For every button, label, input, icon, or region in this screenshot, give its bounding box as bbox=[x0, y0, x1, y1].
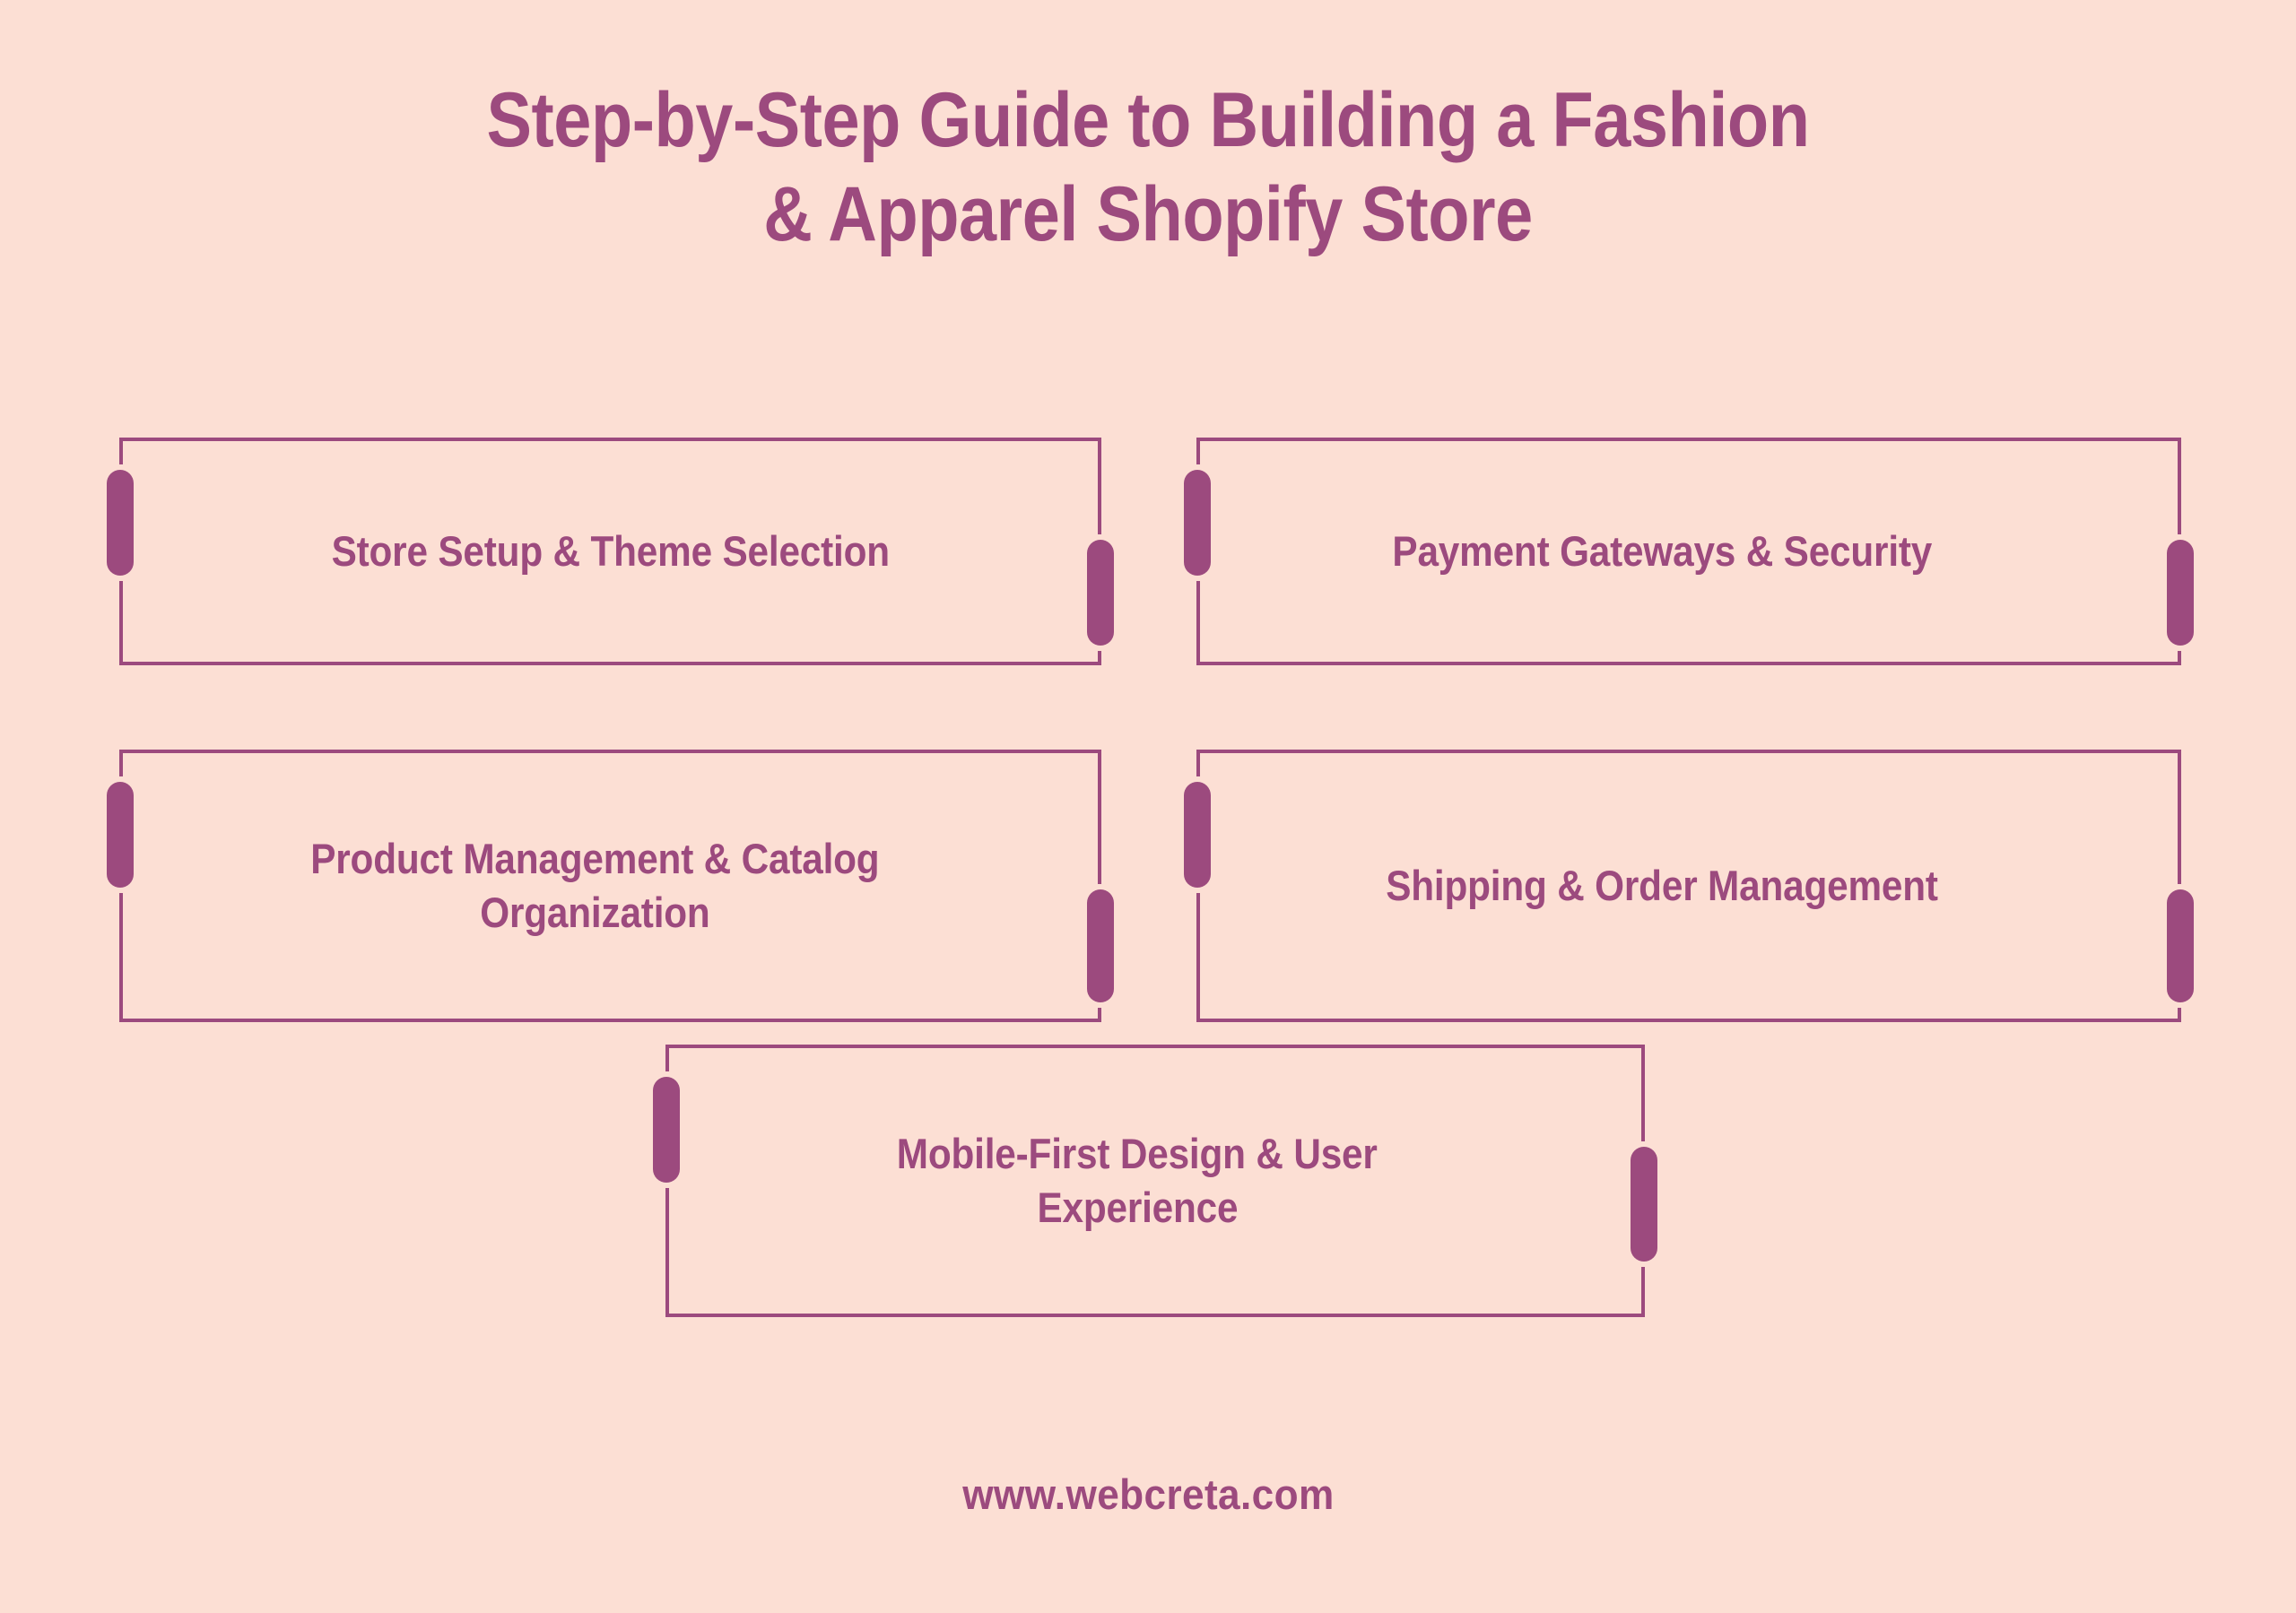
footer: www.webcreta.com bbox=[0, 1470, 2296, 1519]
steps-board: Store Setup & Theme Selection Payment Ga… bbox=[0, 0, 2296, 1613]
step-card-label: Store Setup & Theme Selection bbox=[123, 525, 1098, 578]
step-card-product-management[interactable]: Product Management & Catalog Organizatio… bbox=[119, 750, 1101, 1022]
step-card-label-line-1: Mobile-First Design & User bbox=[897, 1127, 1378, 1181]
step-card-label-line-1: Store Setup & Theme Selection bbox=[331, 525, 889, 578]
step-card-label-line-1: Payment Gateways & Security bbox=[1392, 525, 1932, 578]
step-card-payment-gateways[interactable]: Payment Gateways & Security bbox=[1196, 438, 2181, 665]
step-card-mobile-first-design[interactable]: Mobile-First Design & User Experience bbox=[665, 1045, 1645, 1317]
step-card-label: Mobile-First Design & User Experience bbox=[669, 1127, 1641, 1235]
step-card-shipping-orders[interactable]: Shipping & Order Management bbox=[1196, 750, 2181, 1022]
step-card-label: Product Management & Catalog Organizatio… bbox=[123, 832, 1098, 940]
step-card-label-line-2: Organization bbox=[480, 886, 709, 940]
step-card-label-line-1: Product Management & Catalog bbox=[310, 832, 879, 886]
step-card-label-line-1: Shipping & Order Management bbox=[1386, 859, 1938, 913]
step-card-label: Payment Gateways & Security bbox=[1200, 525, 2178, 578]
step-card-label: Shipping & Order Management bbox=[1200, 859, 2178, 913]
step-card-store-setup[interactable]: Store Setup & Theme Selection bbox=[119, 438, 1101, 665]
step-card-label-line-2: Experience bbox=[1037, 1181, 1238, 1235]
website-url[interactable]: www.webcreta.com bbox=[962, 1470, 1334, 1519]
